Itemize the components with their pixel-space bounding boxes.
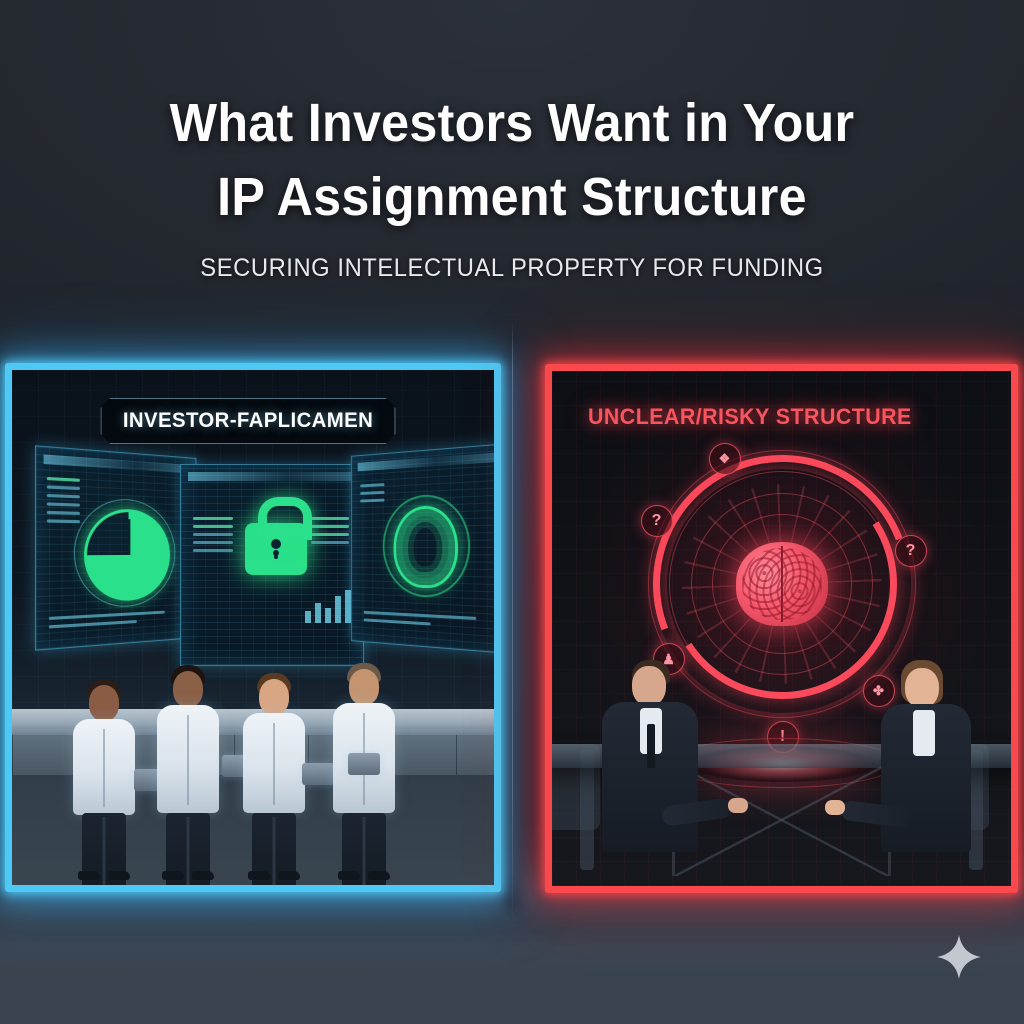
holo-sidebar-lines — [47, 477, 80, 528]
panel-investor-ready-scene — [12, 370, 494, 885]
holo-left-lines — [360, 483, 384, 507]
brain-icon — [736, 542, 828, 626]
head — [173, 671, 203, 707]
holo-line — [193, 533, 233, 536]
holo-line — [47, 485, 80, 490]
shoes — [248, 870, 300, 880]
holo-line — [360, 483, 384, 487]
panel-unclear-risky-scene: ? ? ❖ ♟ ✤ ! — [552, 371, 1011, 886]
holo-line — [193, 525, 233, 528]
holo-line — [47, 502, 80, 506]
badge-unclear-risky: UNCLEAR/RISKY STRUCTURE — [588, 404, 912, 430]
head — [349, 669, 379, 705]
question-mark-icon: ? — [895, 535, 927, 567]
holo-screen-header-bar — [44, 454, 190, 473]
lab-coat — [243, 713, 305, 813]
puzzle-piece-icon: ❖ — [709, 443, 741, 475]
page-title-line-1: What Investors Want in Your — [36, 86, 988, 160]
head — [632, 666, 666, 706]
lab-coat — [73, 719, 135, 815]
poster-canvas: What Investors Want in Your IP Assignmen… — [0, 0, 1024, 1024]
holo-line — [193, 541, 233, 544]
hand — [728, 798, 748, 813]
tablet-device — [348, 753, 380, 775]
chair-left — [580, 750, 594, 870]
panel-divider-line — [512, 320, 513, 920]
lab-coat — [157, 705, 219, 813]
page-subtitle: SECURING INTELECTUAL PROPERTY FOR FUNDIN… — [26, 254, 999, 283]
holo-line — [360, 499, 384, 503]
head — [89, 685, 119, 721]
holo-line — [360, 491, 384, 495]
tablet-device — [302, 763, 334, 785]
holo-line — [311, 525, 349, 528]
page-title-line-2: IP Assignment Structure — [36, 160, 988, 234]
holo-line — [47, 494, 80, 498]
shoes — [338, 870, 390, 880]
holo-line — [311, 533, 349, 536]
holo-line — [47, 511, 80, 515]
holo-right-lines — [311, 517, 349, 549]
holo-brain-network: ? ? ❖ ♟ ✤ ! — [647, 449, 917, 719]
question-mark-icon: ? — [641, 505, 673, 537]
holo-line — [47, 519, 80, 523]
header: What Investors Want in Your IP Assignmen… — [0, 0, 1024, 283]
handshake-icon: ✤ — [863, 675, 895, 707]
holo-screen-header-bar — [188, 472, 356, 481]
holo-line — [47, 477, 80, 482]
holo-line — [311, 541, 349, 544]
sparkle-icon — [936, 934, 982, 980]
holo-line — [193, 517, 233, 520]
shoes — [162, 870, 214, 880]
shoes — [78, 870, 130, 880]
hand — [825, 800, 845, 815]
holo-line — [193, 549, 233, 552]
holo-screen-header-bar — [358, 453, 494, 472]
panel-unclear-risky[interactable]: ? ? ❖ ♟ ✤ ! — [545, 364, 1018, 893]
chair-right — [969, 750, 983, 870]
head — [905, 668, 939, 708]
lab-scientists-group — [12, 555, 494, 885]
holo-left-lines — [193, 517, 233, 557]
holo-line — [311, 517, 349, 520]
badge-investor-ready: INVESTOR-FAPLICAMEN — [101, 398, 396, 444]
head — [259, 679, 289, 715]
dress-shirt — [913, 710, 935, 756]
necktie — [647, 724, 655, 768]
